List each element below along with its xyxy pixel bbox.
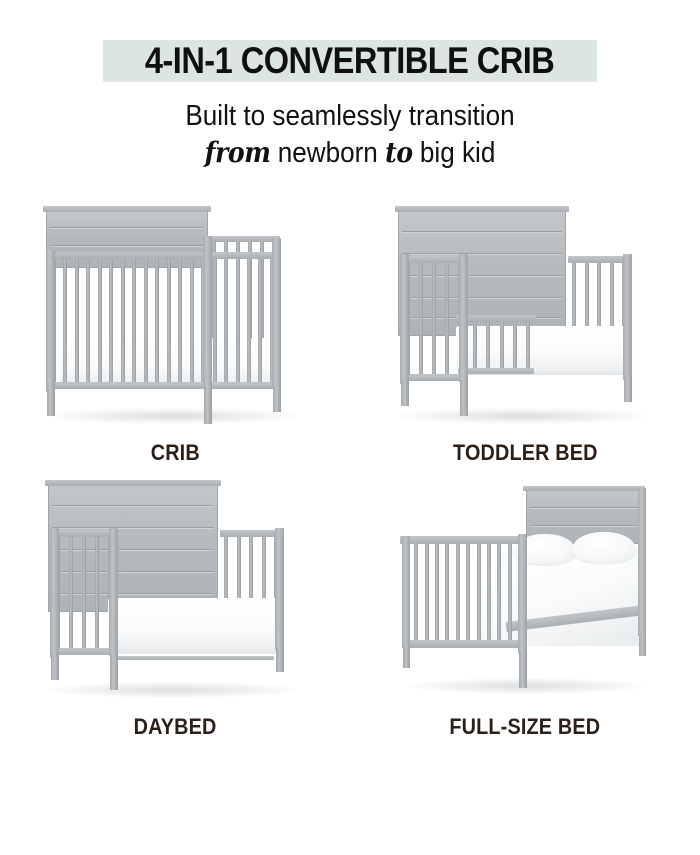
- front-side-slats: [52, 256, 274, 386]
- crib-illustration: [30, 198, 320, 438]
- corner-post-mid: [459, 254, 468, 382]
- footboard-top-rail: [220, 530, 282, 537]
- leg-right: [276, 648, 284, 672]
- toddler-bed-illustration: [380, 198, 670, 438]
- variant-toddler-bed: TODDLER BED: [350, 198, 700, 466]
- variant-grid: CRIB: [0, 198, 700, 740]
- subtitle: Built to seamlessly transition from newb…: [35, 98, 665, 172]
- headboard-top-cap: [395, 206, 569, 212]
- headboard-top-cap: [43, 206, 211, 212]
- leg-front-right: [519, 652, 527, 688]
- mattress-edge: [110, 644, 276, 654]
- end-panel-top-rail: [402, 256, 466, 263]
- end-panel-bottom-rail: [54, 648, 116, 655]
- subtitle-line-1: Built to seamlessly transition: [35, 98, 665, 135]
- end-panel-slats: [406, 260, 462, 378]
- leg-left: [51, 654, 59, 680]
- leg-front-left: [47, 388, 55, 416]
- corner-post-mid: [203, 236, 212, 388]
- pillow-right: [572, 532, 636, 562]
- guard-rail-slats: [460, 320, 530, 370]
- end-panel-bottom-rail: [404, 374, 466, 381]
- variant-crib: CRIB: [0, 198, 350, 466]
- page-title: 4-IN-1 CONVERTIBLE CRIB: [145, 42, 554, 79]
- support-bar: [116, 656, 274, 660]
- infographic-header: 4-IN-1 CONVERTIBLE CRIB Built to seamles…: [0, 0, 700, 172]
- leg-rear-right: [639, 634, 646, 656]
- headboard-top-cap: [45, 480, 221, 486]
- caption-full-size-bed: FULL-SIZE BED: [450, 714, 601, 740]
- floor-shadow: [398, 408, 648, 424]
- footboard-slats: [404, 542, 522, 644]
- floor-shadow: [48, 408, 298, 424]
- product-infographic: 4-IN-1 CONVERTIBLE CRIB Built to seamles…: [0, 0, 700, 855]
- leg-right: [273, 386, 281, 412]
- corner-post-left: [50, 528, 59, 658]
- corner-post-left: [46, 250, 55, 392]
- leg-front-mid: [204, 386, 212, 424]
- subtitle-word-to: to: [385, 136, 413, 169]
- variant-full-size-bed: FULL-SIZE BED: [350, 472, 700, 740]
- leg-mid: [110, 654, 118, 690]
- leg-front-left: [403, 646, 410, 668]
- footboard-post-right: [518, 534, 527, 654]
- corner-post-mid: [109, 528, 118, 656]
- guard-rail-top: [456, 315, 536, 322]
- subtitle-word-bigkid: big kid: [420, 137, 495, 169]
- footboard-bottom-rail: [402, 640, 526, 648]
- headboard-post-right: [638, 488, 646, 636]
- leg-mid: [460, 380, 468, 416]
- floor-shadow: [48, 682, 298, 698]
- footboard-post-left: [402, 536, 410, 648]
- leg-right: [624, 376, 632, 402]
- subtitle-line-2: from newborn to big kid: [35, 135, 665, 172]
- title-highlight-band: 4-IN-1 CONVERTIBLE CRIB: [103, 40, 596, 82]
- title-wrap: 4-IN-1 CONVERTIBLE CRIB: [0, 38, 700, 84]
- full-size-bed-illustration: [380, 472, 670, 712]
- corner-post-right: [623, 254, 632, 380]
- footboard-top-rail: [568, 256, 630, 263]
- corner-post-right: [275, 528, 284, 650]
- caption-daybed: DAYBED: [134, 714, 217, 740]
- end-panel-slats: [56, 534, 112, 652]
- far-side-top-rail: [208, 236, 280, 242]
- variant-daybed: DAYBED: [0, 472, 350, 740]
- caption-crib: CRIB: [150, 440, 199, 466]
- front-top-rail: [48, 252, 278, 259]
- subtitle-word-newborn: newborn: [278, 137, 378, 169]
- subtitle-word-from: from: [205, 136, 271, 169]
- guard-rail-bottom: [458, 368, 534, 374]
- leg-left: [401, 380, 409, 406]
- caption-toddler-bed: TODDLER BED: [453, 440, 598, 466]
- headboard-top-cap: [523, 486, 645, 491]
- mattress: [108, 598, 278, 650]
- daybed-illustration: [30, 472, 320, 712]
- front-bottom-rail: [50, 382, 276, 389]
- footboard-top-rail: [400, 536, 526, 544]
- corner-post-left: [400, 254, 409, 384]
- end-panel-top-rail: [52, 530, 116, 537]
- corner-post-right: [272, 238, 281, 388]
